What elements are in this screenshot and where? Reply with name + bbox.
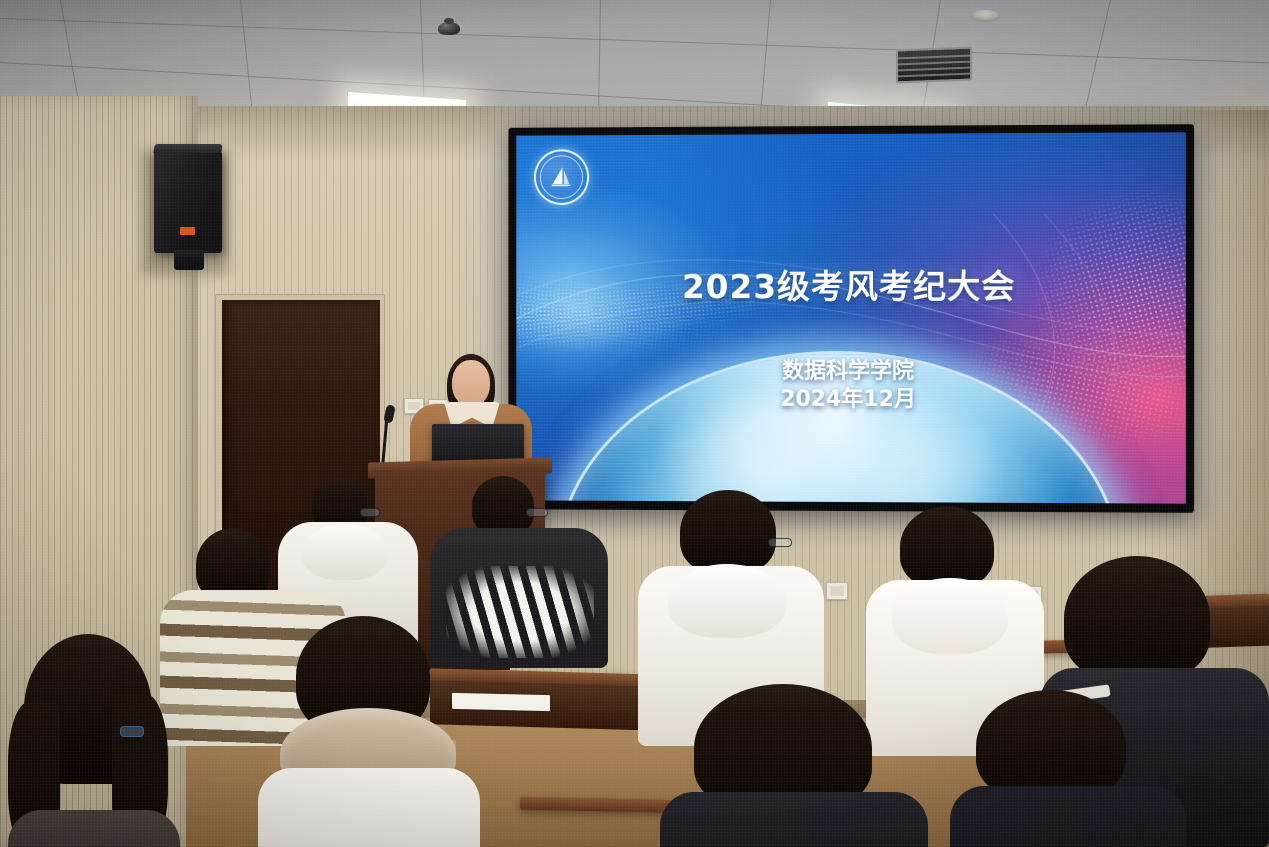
wall-outlet-plate-3[interactable]: [826, 582, 848, 600]
desk-paper-sheet: [452, 693, 550, 711]
jbl-logo: [180, 227, 195, 235]
presenter-head: [452, 360, 490, 406]
student-hood: [302, 524, 388, 580]
student-torso: [8, 810, 180, 847]
student-hood: [892, 578, 1008, 654]
zebra-print-panel: [446, 566, 594, 658]
student-glasses: [526, 508, 548, 517]
speaker-mount-bracket: [174, 250, 204, 270]
student-hood: [668, 564, 786, 638]
student-glasses: [120, 726, 144, 737]
speaker-top-face: [153, 144, 222, 153]
student-hair: [900, 506, 994, 588]
student-glasses: [768, 538, 792, 547]
student-hair: [472, 476, 534, 536]
led-display-screen[interactable]: 2023级考风考纪大会 数据科学学院 2024年12月: [508, 124, 1194, 513]
ceiling-air-vent: [896, 47, 972, 84]
student-torso: [950, 786, 1186, 847]
slide-surface: 2023级考风考纪大会 数据科学学院 2024年12月: [516, 132, 1186, 503]
student-hair: [1064, 556, 1210, 680]
student-torso: [660, 792, 928, 847]
lecture-hall-photo: 2023级考风考纪大会 数据科学学院 2024年12月: [0, 0, 1269, 847]
jbl-wall-speaker: [154, 151, 222, 253]
ceiling-dome-detector: [438, 22, 460, 35]
student-glasses: [360, 508, 380, 517]
student-torso: [258, 768, 480, 847]
led-scanline-overlay: [516, 132, 1186, 503]
student-hair: [680, 490, 776, 574]
ceiling-sprinkler: [970, 10, 1000, 22]
